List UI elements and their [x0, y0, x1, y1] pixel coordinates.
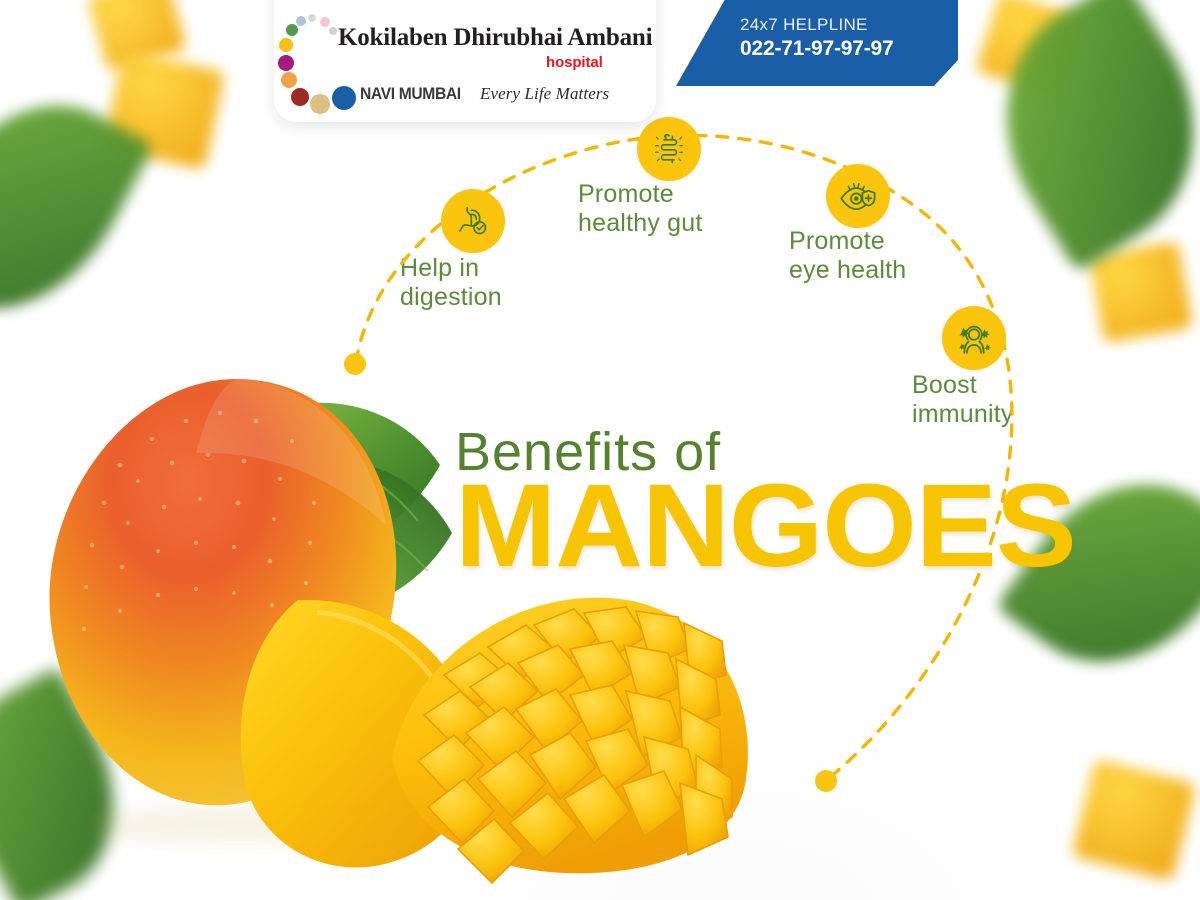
- benefit-label-digestion: Help in digestion: [400, 254, 502, 312]
- benefit-node-digestion[interactable]: [441, 189, 505, 253]
- logo-dot: [291, 88, 309, 106]
- immunity-person-virus-icon: [942, 306, 1006, 370]
- benefit-label-gut: Promote healthy gut: [578, 180, 703, 238]
- logo-dot: [332, 86, 356, 110]
- benefit-label-eye: Promote eye health: [789, 227, 906, 285]
- circular-dots-logo-icon: [278, 14, 338, 110]
- logo-dot: [310, 94, 330, 114]
- hospital-logo[interactable]: Kokilaben Dhirubhai Ambani hospital NAVI…: [274, 0, 674, 122]
- logo-dot: [308, 14, 316, 22]
- benefit-node-gut[interactable]: [637, 117, 701, 181]
- mango-cube-icon: [1089, 241, 1193, 343]
- benefit-node-eye[interactable]: [826, 164, 890, 228]
- mango-cube-icon: [1071, 759, 1196, 881]
- stomach-digestion-icon: [441, 189, 505, 253]
- logo-dot: [329, 27, 337, 35]
- headline-title: MANGOES: [455, 478, 1076, 575]
- intestines-gut-icon: [637, 117, 701, 181]
- poster-canvas: Help in digestionPromote healthy gutProm…: [0, 0, 1200, 900]
- logo-tagline: Every Life Matters: [480, 84, 609, 104]
- logo-hospital-name: Kokilaben Dhirubhai Ambani: [338, 24, 652, 52]
- logo-city: NAVI MUMBAI: [360, 84, 461, 104]
- logo-dot: [286, 24, 298, 36]
- logo-dot: [278, 55, 294, 71]
- helpline-label: 24x7 HELPLINE: [740, 14, 893, 35]
- logo-hospital-word: hospital: [546, 54, 603, 71]
- benefit-label-immunity: Boost immunity: [912, 371, 1014, 429]
- helpline-number[interactable]: 022-71-97-97-97: [740, 35, 893, 62]
- logo-dot: [320, 17, 330, 27]
- logo-dot: [281, 72, 297, 88]
- eye-shield-health-icon: [826, 164, 890, 228]
- mango-hedgehog-half: [392, 598, 748, 883]
- poster-headline: Benefits of MANGOES: [455, 428, 1058, 574]
- helpline-banner[interactable]: 24x7 HELPLINE 022-71-97-97-97: [676, 0, 958, 92]
- logo-dot: [296, 16, 306, 26]
- benefit-node-immunity[interactable]: [942, 306, 1006, 370]
- logo-dot: [279, 38, 293, 52]
